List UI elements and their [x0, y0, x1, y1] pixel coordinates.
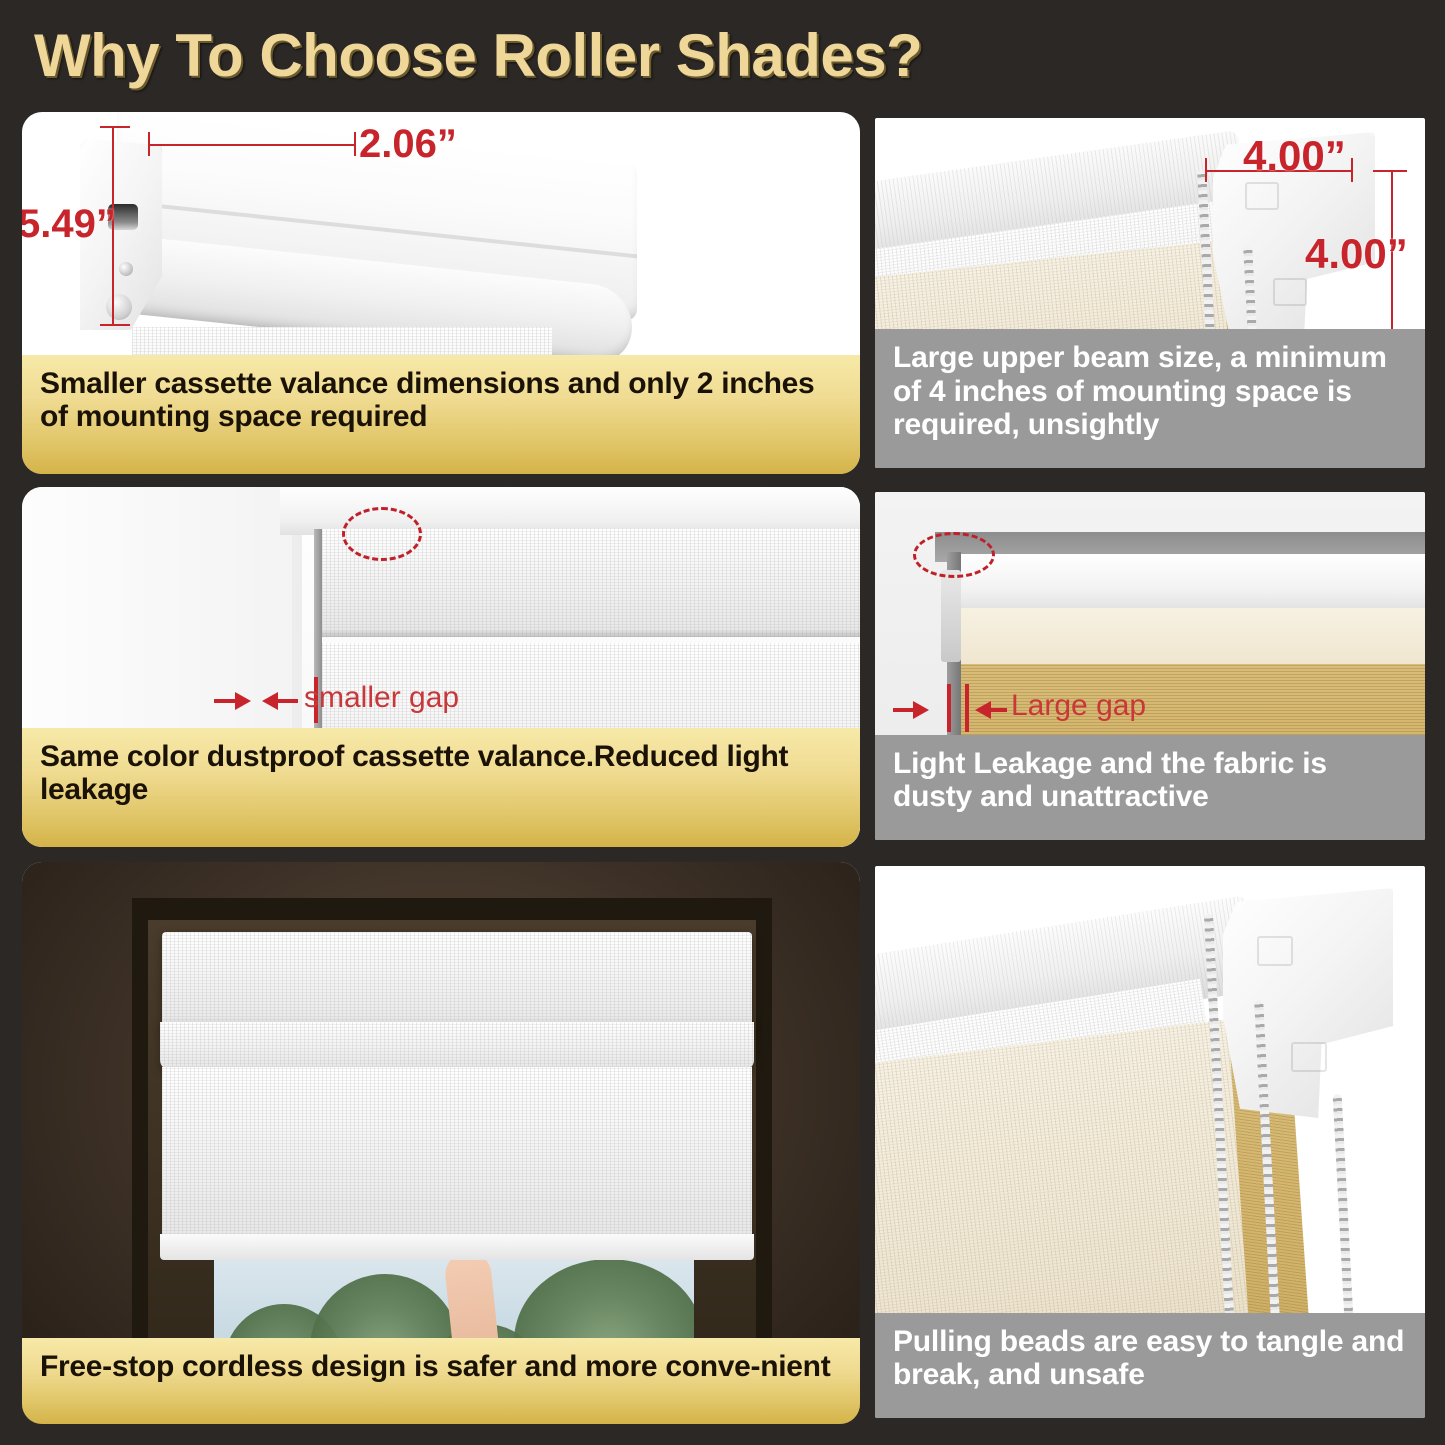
height-dimension-tick-bottom [100, 324, 130, 326]
gap-arrow-stem-right [989, 708, 1007, 712]
width-dimension-tick-right [354, 132, 356, 156]
width-dimension-line [148, 144, 356, 146]
mounting-bracket-shape [1223, 888, 1393, 1118]
caption-cassette-valance: Smaller cassette valance dimensions and … [22, 355, 860, 474]
width-dimension-label: 4.00” [1243, 132, 1346, 180]
width-dimension-tick-right [1351, 158, 1353, 182]
gap-label: Large gap [1011, 689, 1146, 723]
width-dimension-tick-left [148, 132, 150, 156]
caption-large-upper-beam: Large upper beam size, a minimum of 4 in… [875, 329, 1425, 468]
title-bar: Why To Choose Roller Shades? [0, 0, 1445, 110]
panel-cassette-valance: 2.06” 5.49” Smaller cassette valance dim… [22, 112, 860, 474]
page-title: Why To Choose Roller Shades? [34, 21, 922, 90]
height-dimension-tick-top [100, 126, 130, 128]
bracket-fragment-shape [941, 570, 961, 662]
height-dimension-label: 4.00” [1305, 230, 1408, 278]
width-dimension-label: 2.06” [359, 122, 457, 167]
bracket-emboss-icon [1245, 182, 1279, 210]
height-dimension-label: 5.49” [22, 202, 116, 247]
gap-arrow-stem-left [893, 708, 913, 712]
screw-icon [106, 294, 132, 320]
gap-arrow-right-icon [235, 692, 251, 710]
bracket-emboss-icon [1273, 278, 1307, 306]
highlight-ellipse-icon [342, 507, 422, 561]
fabric-top-band-shape [953, 608, 1425, 666]
highlight-ellipse-icon [913, 532, 995, 578]
valance-shape [162, 932, 752, 1032]
caption-pulling-beads: Pulling beads are easy to tangle and bre… [875, 1313, 1425, 1418]
gap-marker-bar [947, 684, 951, 732]
gap-marker-bar [965, 684, 969, 732]
width-dimension-tick-left [1205, 158, 1207, 182]
panel-cordless-design: Free-stop cordless design is safer and m… [22, 862, 860, 1424]
gap-arrow-stem-right [276, 699, 298, 703]
caption-dustproof-valance: Same color dustproof cassette valance.Re… [22, 728, 860, 847]
caption-light-leakage: Light Leakage and the fabric is dusty an… [875, 735, 1425, 840]
bottom-rail-shape [160, 1234, 754, 1260]
gap-arrow-stem-left [214, 699, 236, 703]
screw-icon [119, 262, 133, 276]
panel-pulling-beads: Pulling beads are easy to tangle and bre… [875, 866, 1425, 1418]
gap-arrow-right-icon [913, 701, 929, 719]
caption-cordless-design: Free-stop cordless design is safer and m… [22, 1338, 860, 1424]
valance-lip-shape [160, 1022, 754, 1070]
bracket-emboss-icon [1257, 936, 1293, 966]
height-dimension-tick-top [1373, 170, 1407, 172]
shade-fabric-shape [162, 1067, 752, 1243]
panel-light-leakage: Large gap Light Leakage and the fabric i… [875, 492, 1425, 840]
panel-large-upper-beam: 4.00” 4.00” Large upper beam size, a min… [875, 118, 1425, 468]
bracket-emboss-icon [1291, 1042, 1327, 1072]
panel-dustproof-valance: smaller gap Same color dustproof cassett… [22, 487, 860, 847]
gap-label: smaller gap [304, 681, 459, 715]
